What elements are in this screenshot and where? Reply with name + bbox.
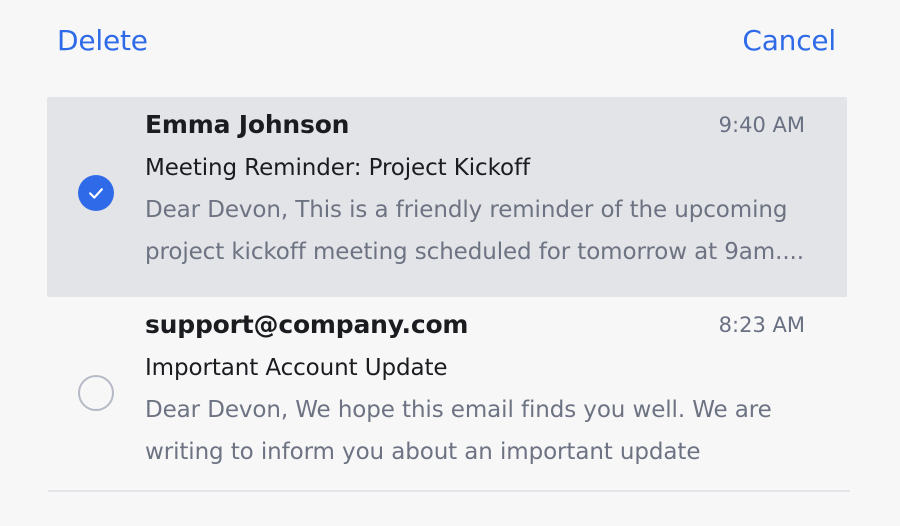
message-preview: Dear Devon, This is a friendly reminder … xyxy=(145,189,805,273)
message-list: Emma Johnson 9:40 AM Meeting Reminder: P… xyxy=(0,82,900,482)
message-text-block: Emma Johnson 9:40 AM Meeting Reminder: P… xyxy=(145,106,835,273)
message-sender: support@company.com xyxy=(145,306,468,344)
message-subject: Important Account Update xyxy=(145,351,835,385)
selection-indicator-unchecked[interactable] xyxy=(78,375,114,411)
message-preview: Dear Devon, We hope this email finds you… xyxy=(145,389,805,473)
message-row-content: support@company.com 8:23 AM Important Ac… xyxy=(0,282,900,497)
cancel-button[interactable]: Cancel xyxy=(742,21,836,61)
message-list-item[interactable]: Emma Johnson 9:40 AM Meeting Reminder: P… xyxy=(0,82,900,282)
message-list-item[interactable]: support@company.com 8:23 AM Important Ac… xyxy=(0,282,900,482)
message-sender: Emma Johnson xyxy=(145,106,349,144)
message-row-content: Emma Johnson 9:40 AM Meeting Reminder: P… xyxy=(0,82,900,297)
list-divider xyxy=(48,490,850,492)
selection-indicator-checked[interactable] xyxy=(78,175,114,211)
action-bar: Delete Cancel xyxy=(0,0,900,82)
message-timestamp: 8:23 AM xyxy=(719,309,805,341)
email-selection-screen: Delete Cancel Emma Johnson 9:40 AM Meeti… xyxy=(0,0,900,526)
message-subject: Meeting Reminder: Project Kickoff xyxy=(145,151,835,185)
message-text-block: support@company.com 8:23 AM Important Ac… xyxy=(145,306,835,473)
delete-button[interactable]: Delete xyxy=(57,21,148,61)
check-icon xyxy=(86,183,106,203)
message-header-line: Emma Johnson 9:40 AM xyxy=(145,106,835,146)
message-header-line: support@company.com 8:23 AM xyxy=(145,306,835,346)
message-timestamp: 9:40 AM xyxy=(719,109,805,141)
